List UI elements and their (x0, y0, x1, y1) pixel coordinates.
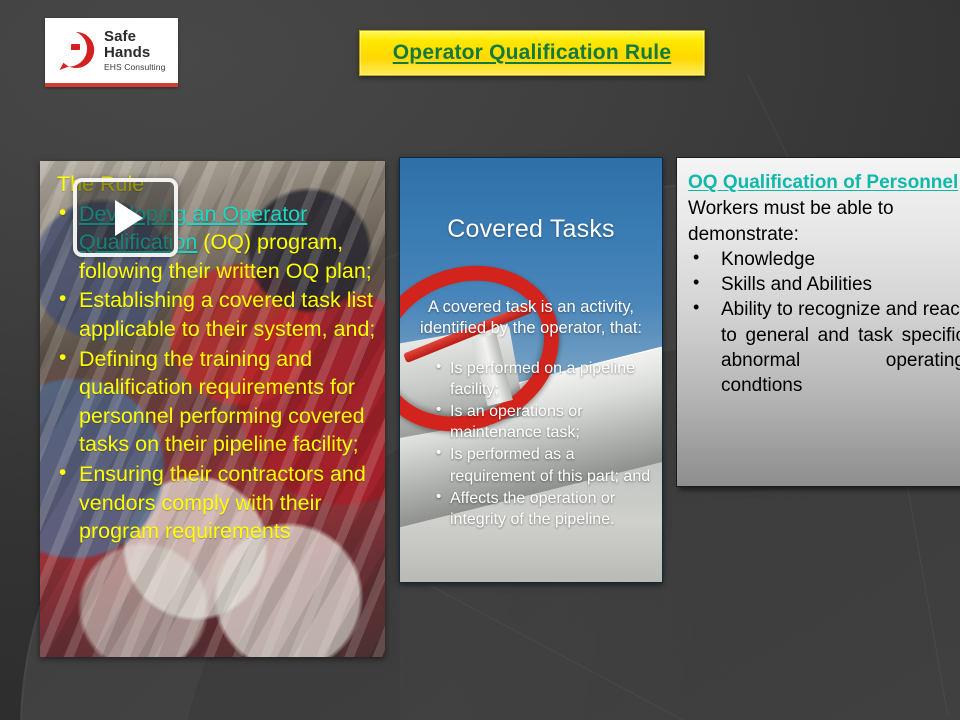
covered-tasks-subtitle: A covered task is an activity, identifie… (414, 297, 648, 339)
covered-tasks-image-panel[interactable]: Covered Tasks A covered task is an activ… (399, 157, 663, 583)
left-video-panel[interactable]: The Rule Developing an Operator Qualific… (40, 161, 385, 657)
oq-qualification-panel: OQ Qualification of Personnel Workers mu… (676, 157, 960, 487)
list-item: Defining the training and qualification … (57, 345, 379, 459)
slide-canvas: Safe Hands EHS Consulting Operator Quali… (0, 0, 960, 720)
play-triangle-icon (115, 200, 143, 236)
list-item: Knowledge (688, 247, 960, 272)
list-item: Is performed on a pipeline facility; (436, 358, 652, 400)
list-item-text: Defining the training and qualification … (79, 347, 365, 457)
hand-in-speech-bubble-icon (54, 29, 98, 73)
list-item-text: Ensuring their contractors and vendors c… (79, 462, 366, 543)
company-logo: Safe Hands EHS Consulting (45, 18, 178, 87)
list-item-text: Establishing a covered task list applica… (79, 288, 375, 341)
list-item: Ensuring their contractors and vendors c… (57, 460, 379, 546)
list-item: Establishing a covered task list applica… (57, 286, 379, 343)
list-item: Ability to recognize and react to genera… (688, 297, 960, 398)
oq-qualification-heading: OQ Qualification of Personnel (688, 170, 960, 195)
video-play-button[interactable] (73, 178, 178, 257)
logo-tagline: EHS Consulting (104, 63, 178, 72)
slide-title-banner: Operator Qualification Rule (359, 30, 705, 76)
list-item: Skills and Abilities (688, 272, 960, 297)
covered-tasks-list: Is performed on a pipeline facility; Is … (436, 358, 652, 531)
logo-wordmark: Safe Hands EHS Consulting (104, 29, 178, 71)
list-item: Is performed as a requirement of this pa… (436, 444, 652, 486)
covered-tasks-title: Covered Tasks (400, 215, 662, 244)
oq-qualification-list: Knowledge Skills and Abilities Ability t… (688, 247, 960, 399)
oq-qualification-lead: Workers must be able to demonstrate: (688, 196, 960, 247)
logo-name: Safe Hands (104, 29, 178, 61)
list-item: Affects the operation or integrity of th… (436, 488, 652, 530)
list-item: Is an operations or maintenance task; (436, 401, 652, 443)
page-title: Operator Qualification Rule (393, 41, 671, 65)
